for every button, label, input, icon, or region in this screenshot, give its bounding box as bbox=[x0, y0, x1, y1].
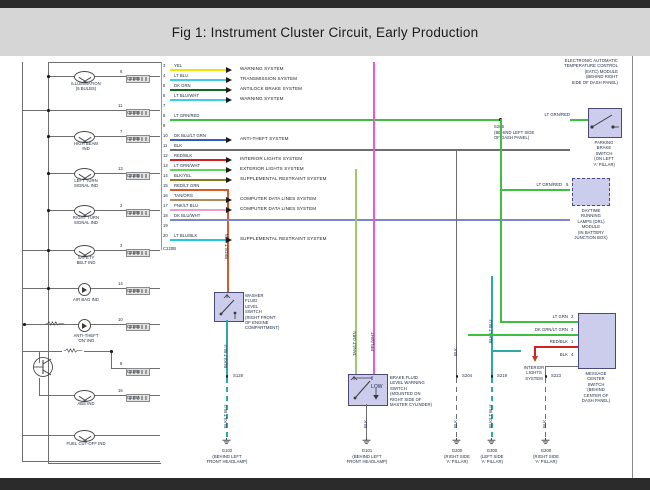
washer-switch-symbol bbox=[214, 292, 242, 320]
indicator-label-left-turn: LEFT TURN SIGNAL IND bbox=[56, 178, 116, 189]
top-bar bbox=[0, 0, 650, 8]
wire-system-label: ANTILOCK BRAKE SYSTEM bbox=[240, 86, 302, 91]
splice-label-s219: S219 bbox=[497, 373, 507, 378]
wire-name-label: LT GRN/WHT bbox=[174, 163, 200, 168]
message-center-switch-box[interactable] bbox=[578, 313, 616, 369]
wire-label-ppl-wht: PPL/WHT bbox=[370, 332, 375, 351]
junction-dot bbox=[23, 323, 26, 326]
wire-name-label: TAN/ORG bbox=[174, 193, 193, 198]
wire-pin-number: 12 bbox=[163, 153, 168, 158]
drl-pin-number: 5 bbox=[566, 182, 568, 187]
wire-name-label: DK BLU/LT GRN bbox=[174, 133, 206, 138]
wire-label-blk-lt-blu: BLK/LT BLU bbox=[223, 345, 228, 368]
wire-label-dk-grn-lt-grn: DK GRN/LT GRN bbox=[496, 327, 568, 332]
cluster-connector-label: C220B bbox=[127, 110, 140, 115]
indicator-label-right-turn: RIGHT TURN SIGNAL IND bbox=[56, 215, 116, 226]
wire-to-parking-brake bbox=[570, 119, 588, 121]
ground-symbol-g102 bbox=[222, 438, 231, 445]
cluster-pin-number: 13 bbox=[118, 166, 123, 171]
wire-line-dk-blu-wht bbox=[170, 219, 570, 221]
wire-system-label: WARNING SYSTEM bbox=[240, 96, 284, 101]
wire-pin-number: 11 bbox=[163, 143, 167, 148]
cluster-connector-label: C220B bbox=[127, 250, 140, 255]
wire-name-label: LT BLU bbox=[174, 73, 188, 78]
wire-dashed-blk-s204 bbox=[456, 378, 457, 438]
wire-name-label: YEL bbox=[174, 63, 182, 68]
drl-module-box[interactable] bbox=[572, 178, 610, 206]
wire-name-label: LT BLU/WHT bbox=[174, 93, 199, 98]
connector-pin-rail bbox=[161, 62, 162, 250]
msg-pin-number: 3 bbox=[571, 327, 573, 332]
indicator-label-illumination: ILLUMINATION (5 BULBS) bbox=[56, 81, 116, 92]
wire-line-lt-grn-red bbox=[170, 119, 500, 121]
wire-pin-number: 3 bbox=[163, 63, 165, 68]
cluster-pin-number: 3 bbox=[120, 243, 122, 248]
resistor-abs bbox=[62, 348, 84, 353]
wire-arrow bbox=[226, 167, 232, 173]
ground-label-g101: G101 bbox=[336, 448, 398, 453]
wire-line bbox=[170, 199, 227, 201]
junction-dot bbox=[47, 172, 50, 175]
cluster-connector-label: C220A bbox=[127, 395, 140, 400]
splice-label-s204: S204 bbox=[462, 373, 472, 378]
washer-fluid-switch-label: WASHER FLUID LEVEL SWITCH (RIGHT FRONT O… bbox=[245, 293, 279, 331]
wire-pin-number: 13 bbox=[163, 163, 168, 168]
transistor-top-wire bbox=[84, 351, 112, 352]
wire-arrow bbox=[226, 97, 232, 103]
wire-pin-number: 4 bbox=[163, 73, 165, 78]
wire-system-label: EXTERIOR LIGHTS SYSTEM bbox=[240, 166, 304, 171]
wire-red-blk-msg bbox=[534, 346, 578, 348]
wire-label-blk-brake: BLK bbox=[363, 420, 368, 428]
cluster-connector-label: C220B bbox=[127, 136, 140, 141]
ground-symbol-g101 bbox=[362, 438, 371, 445]
wire-pin-number: 14 bbox=[163, 173, 168, 178]
wire-label-red-lt-grn: RED/LT GRN bbox=[224, 234, 229, 259]
cluster-connector-label: C220B bbox=[127, 76, 140, 81]
cluster-bottom-rail bbox=[22, 461, 160, 462]
wire-name-label: BLK bbox=[174, 143, 182, 148]
wire-label-tan-lt-grn: TAN/LT GRN bbox=[352, 331, 357, 356]
wire-pin-number: 5 bbox=[163, 83, 165, 88]
ground-label-g102: G102 bbox=[196, 448, 258, 453]
indicator-label-air-bag: AIR BAG IND bbox=[56, 297, 116, 302]
junction-dot bbox=[47, 135, 50, 138]
wire-system-label: ANTI-THEFT SYSTEM bbox=[240, 136, 289, 141]
ground-note-g101: (BEHIND LEFT FRONT HEADLAMP) bbox=[336, 454, 398, 465]
wire-system-label: COMPUTER DATA LINES SYSTEM bbox=[240, 196, 316, 201]
wire-system-label: TRANSMISSION SYSTEM bbox=[240, 76, 297, 81]
junction-dot bbox=[47, 109, 50, 112]
wire-label-blk-lt-blu-lower: BLK/LT BLU bbox=[488, 405, 493, 428]
wire-system-label: INTERIOR LIGHTS SYSTEM bbox=[240, 156, 302, 161]
wire-lt-grn-red-to-drl bbox=[500, 189, 570, 191]
indicator-label-fuel-cut-off: FUEL CUT-OFF IND bbox=[50, 441, 122, 446]
wire-arrow bbox=[226, 77, 232, 83]
cluster-connector-label: C220B bbox=[127, 324, 140, 329]
wire-arrow bbox=[226, 137, 232, 143]
splice-label-s128: S128 bbox=[233, 373, 243, 378]
wire-label-blk-lower-s204: BLK bbox=[453, 420, 458, 428]
bottom-bar bbox=[0, 478, 650, 490]
wire-name-label: RED/LT GRN bbox=[174, 183, 199, 188]
wire-name-label: RED/BLK bbox=[174, 153, 192, 158]
junction-dot bbox=[47, 209, 50, 212]
diagram-page: Fig 1: Instrument Cluster Circuit, Early… bbox=[0, 0, 650, 490]
cluster-pin-number: 2 bbox=[120, 203, 122, 208]
message-center-switch-label: MESSAGE CENTER SWITCH (BEHIND CENTER OF … bbox=[566, 371, 626, 403]
wire-line bbox=[170, 209, 227, 211]
wire-label-blk-s204: BLK bbox=[453, 348, 458, 356]
transistor-top-wire bbox=[39, 351, 62, 352]
abs-left-drop bbox=[39, 378, 40, 396]
wire-arrow bbox=[226, 157, 232, 163]
junction-dot bbox=[47, 75, 50, 78]
cluster-pin-number: 6 bbox=[120, 69, 122, 74]
wire-label-blk-lt-blu-lower: BLK/LT BLU bbox=[223, 405, 228, 428]
wire-name-label: DK GRN bbox=[174, 83, 191, 88]
indicator-label-high-beam: HIGH BEAM IND bbox=[56, 141, 116, 152]
wire-system-label: SUPPLEMENTAL RESTRAINT SYSTEM bbox=[240, 176, 327, 181]
wire-label-blk-msg: BLK bbox=[518, 352, 568, 357]
wire-pin-number: 8 bbox=[163, 113, 165, 118]
figure-title: Fig 1: Instrument Cluster Circuit, Early… bbox=[172, 25, 479, 40]
wire-dashed-blk-s223 bbox=[545, 378, 546, 438]
wire-blk-lt-blu-jog bbox=[491, 350, 521, 352]
wire-pin-number: 10 bbox=[163, 133, 168, 138]
wire-name-label: LT BLU/BLK bbox=[174, 233, 197, 238]
cluster-connector-label: C220B bbox=[127, 210, 140, 215]
ground-note-g300: (LEFT SIDE 'A' PILLAR) bbox=[461, 454, 523, 465]
eatc-module-label: ELECTRONIC AUTOMATIC TEMPERATURE CONTROL… bbox=[500, 58, 618, 85]
wire-list-connector-label: C220B bbox=[163, 246, 176, 251]
msg-pin-number: 4 bbox=[571, 352, 573, 357]
wire-line bbox=[170, 99, 227, 101]
cluster-pin-number: 7 bbox=[120, 129, 122, 134]
wire-system-label: COMPUTER DATA LINES SYSTEM bbox=[240, 206, 316, 211]
indicator-label-anti-theft: ANTI-THEFT 'ON' IND bbox=[56, 333, 116, 344]
wire-line bbox=[170, 159, 227, 161]
wire-line bbox=[170, 189, 228, 191]
led-anti-theft bbox=[78, 319, 91, 332]
cluster-pin-number: 16 bbox=[118, 388, 123, 393]
wire-label-lt-grn: LT GRN bbox=[508, 314, 568, 319]
wire-name-label: BLK/YEL bbox=[174, 173, 191, 178]
ground-symbol-g200-left bbox=[452, 438, 461, 445]
figure-caption-bar: Fig 1: Instrument Cluster Circuit, Early… bbox=[0, 8, 650, 56]
junction-dot bbox=[110, 350, 113, 353]
wire-pin-number: 16 bbox=[163, 193, 168, 198]
resistor-anti-theft bbox=[44, 321, 66, 326]
ground-note-g200-right: (RIGHT SIDE 'A' PILLAR) bbox=[515, 454, 577, 465]
wire-arrow bbox=[226, 177, 232, 183]
wire-line bbox=[170, 239, 227, 241]
wire-pin-number: 18 bbox=[163, 213, 168, 218]
wire-blk-trunk-s204 bbox=[456, 149, 457, 376]
wiring-diagram-sheet: ILLUMINATION (5 BULBS) 6 C220B 11 C220B … bbox=[0, 56, 650, 478]
cluster-pin-number: 14 bbox=[118, 281, 123, 286]
wire-pin-number: 19 bbox=[163, 223, 168, 228]
wire-lt-grn-red-drop bbox=[500, 119, 502, 191]
wire-line bbox=[170, 169, 227, 171]
cluster-pin-number: 8 bbox=[120, 361, 122, 366]
wire-system-label: SUPPLEMENTAL RESTRAINT SYSTEM bbox=[240, 236, 327, 241]
transistor-right-drop bbox=[111, 351, 112, 369]
msg-pin-number: 2 bbox=[571, 314, 573, 319]
wire-arrow bbox=[226, 207, 232, 213]
wire-label-blk-lt-blu-trunk: BLK/LT BLU bbox=[488, 320, 493, 343]
ground-label-g300: G300 bbox=[461, 448, 523, 453]
brake-switch-state-label: LOW bbox=[371, 384, 383, 390]
wire-label-red-blk: RED/BLK bbox=[512, 339, 568, 344]
wire-line-blk bbox=[170, 149, 570, 151]
ground-note-g102: (BEHIND LEFT FRONT HEADLAMP) bbox=[196, 454, 258, 465]
wire-pin-number: 15 bbox=[163, 183, 168, 188]
wire-name-label: DK BLU/WHT bbox=[174, 213, 200, 218]
cluster-pin-number: 10 bbox=[118, 317, 123, 322]
wire-pin-number: 9 bbox=[163, 123, 165, 128]
wire-line bbox=[170, 69, 227, 71]
cluster-row-wire bbox=[22, 351, 40, 352]
junction-dot bbox=[47, 249, 50, 252]
splice-label-s206: S206 bbox=[494, 124, 504, 129]
wire-pin-number: 17 bbox=[163, 203, 168, 208]
wire-pin-number: 7 bbox=[163, 103, 165, 108]
ground-label-g200-right: G200 bbox=[515, 448, 577, 453]
indicator-label-safety-belt: SAFETY BELT IND bbox=[56, 255, 116, 266]
sheet-right-border bbox=[632, 56, 633, 478]
cluster-connector-label: C220B bbox=[127, 173, 140, 178]
wire-arrow bbox=[226, 87, 232, 93]
wire-arrow bbox=[226, 67, 232, 73]
wire-arrow bbox=[226, 197, 232, 203]
wire-dk-grn-lt-grn-msg bbox=[468, 334, 578, 336]
drl-module-label: DAYTIME RUNNING LAMPS (DRL) MODULE (IN B… bbox=[560, 208, 622, 240]
wire-label-blk-s223: BLK bbox=[542, 420, 547, 428]
wire-name-label: PNK/LT BLU bbox=[174, 203, 198, 208]
indicator-label-abs: ABS IND bbox=[56, 401, 116, 406]
wire-line bbox=[170, 79, 227, 81]
wire-lt-grn-msg-riser bbox=[500, 189, 502, 322]
wire-label-lt-grn-red-drl: LT GRN/RED bbox=[500, 182, 562, 187]
wire-pin-number: 6 bbox=[163, 93, 165, 98]
ground-symbol-g300 bbox=[487, 438, 496, 445]
parking-brake-switch-symbol bbox=[588, 108, 620, 136]
wire-system-label: WARNING SYSTEM bbox=[240, 66, 284, 71]
wire-pin-number: 20 bbox=[163, 233, 168, 238]
cluster-connector-label: C220B bbox=[127, 369, 140, 374]
wire-name-label: LT GRN/RED bbox=[174, 113, 199, 118]
wire-ppl-wht bbox=[373, 62, 375, 374]
transistor-symbol bbox=[32, 356, 58, 378]
wire-line bbox=[170, 139, 227, 141]
wire-label-lt-grn-red-top: LT GRN/RED bbox=[510, 112, 570, 117]
brake-fluid-switch-label: BRAKE FLUID LEVEL WARNING SWITCH (MOUNTE… bbox=[390, 375, 432, 407]
wire-lt-grn-msg bbox=[500, 321, 578, 323]
wire-line bbox=[170, 89, 227, 91]
cluster-left-rail bbox=[22, 62, 23, 462]
parking-brake-switch-label: PARKING BRAKE SWITCH (ON LEFT 'A' PILLAR… bbox=[578, 140, 630, 167]
led-air-bag bbox=[78, 283, 91, 296]
junction-dot bbox=[47, 287, 50, 290]
interior-lights-system-label: INTERIOR LIGHTS SYSTEM bbox=[512, 365, 556, 381]
cluster-connector-label: C220B bbox=[127, 288, 140, 293]
cluster-pin-number: 11 bbox=[118, 103, 122, 108]
wire-line bbox=[170, 179, 227, 181]
ground-symbol-g200-right bbox=[541, 438, 550, 445]
msg-pin-number: 1 bbox=[571, 339, 573, 344]
